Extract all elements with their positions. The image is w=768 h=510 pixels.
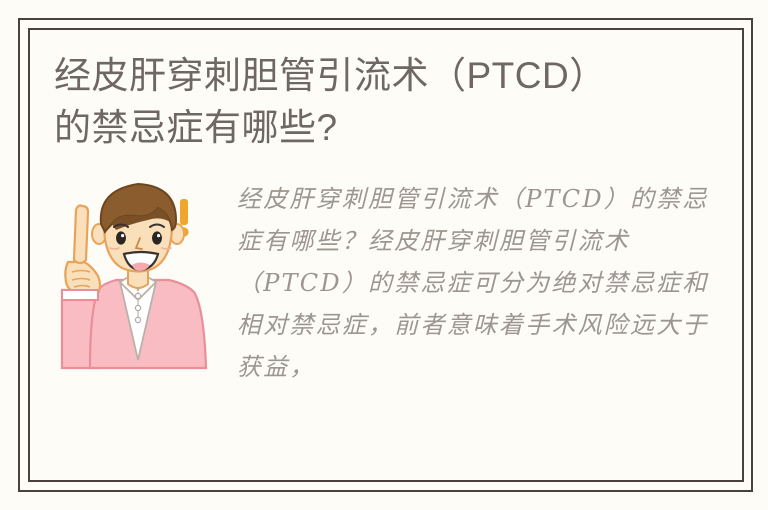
person-pointing-up-illustration (54, 172, 229, 372)
article-body-text: 经皮肝穿刺胆管引流术（PTCD）的禁忌症有哪些？经皮肝穿刺胆管引流术（PTCD）… (229, 172, 718, 388)
article-content: 经皮肝穿刺胆管引流术（PTCD） 的禁忌症有哪些? (28, 28, 744, 482)
page-title: 经皮肝穿刺胆管引流术（PTCD） 的禁忌症有哪些? (54, 50, 718, 154)
page-root: 经皮肝穿刺胆管引流术（PTCD） 的禁忌症有哪些? (0, 0, 768, 510)
article-body-row: 经皮肝穿刺胆管引流术（PTCD）的禁忌症有哪些？经皮肝穿刺胆管引流术（PTCD）… (54, 172, 718, 388)
